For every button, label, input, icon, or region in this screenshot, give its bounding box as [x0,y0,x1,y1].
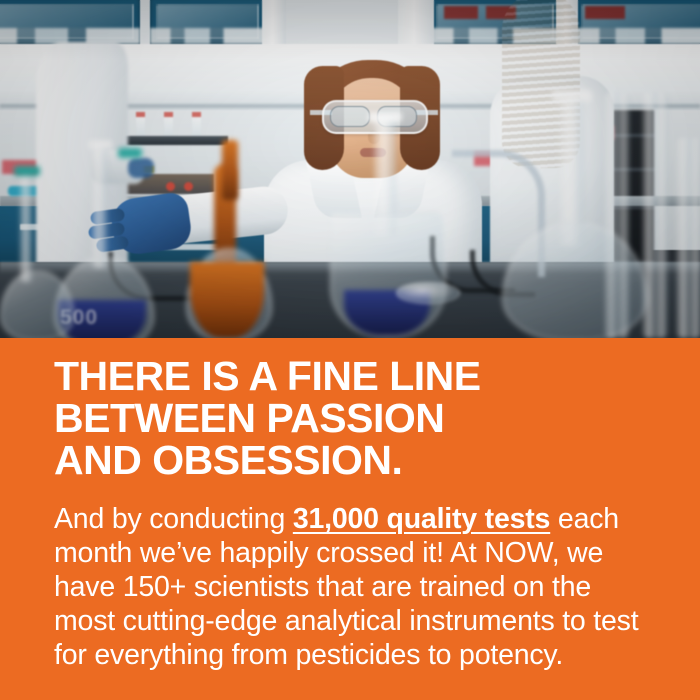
instrument-knob [166,182,175,191]
orange-text-panel: THERE IS A FINE LINE BETWEEN PASSION AND… [0,338,700,700]
laboratory-photo: 500 [0,0,700,338]
cabinet-shelf-contents [150,28,265,44]
body-copy-before: And by conducting [54,503,293,535]
petri-dish [396,282,460,304]
page-title: THERE IS A FINE LINE BETWEEN PASSION AND… [54,355,481,481]
scientist-left-glove [128,158,154,178]
goggles-lens [330,106,370,127]
glass-cylinder [676,138,700,338]
upper-cabinet [150,0,265,46]
instrument-knob [184,182,193,191]
promo-card: 500 [0,0,700,700]
body-copy: And by conducting 31,000 quality tests e… [54,502,644,672]
quality-tests-highlight: 31,000 quality tests [293,503,550,535]
